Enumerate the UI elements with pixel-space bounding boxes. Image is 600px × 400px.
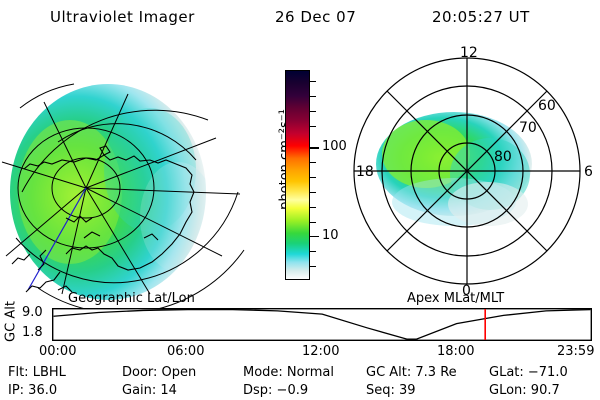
colorbar-minor-tick <box>310 111 316 112</box>
status-ip: IP: 36.0 <box>8 383 57 398</box>
colorbar-gradient <box>286 71 309 279</box>
colorbar-minor-tick <box>310 192 316 193</box>
colorbar-minor-tick <box>310 222 316 223</box>
instrument-title: Ultraviolet Imager <box>50 8 195 26</box>
colorbar-major-tick <box>310 236 319 238</box>
observation-date: 26 Dec 07 <box>275 8 356 26</box>
status-glat: GLat: −71.0 <box>489 365 568 380</box>
strip-title-geographic: Geographic Lat/Lon <box>68 291 195 306</box>
strip-y-min-label: 1.8 <box>22 325 43 340</box>
colorbar-major-tick <box>310 147 319 149</box>
colorbar-minor-tick <box>310 177 316 178</box>
colorbar: photon cm⁻²s⁻¹ 10010 <box>252 56 338 296</box>
strip-y-axis-label: GC Alt <box>4 301 19 343</box>
mlt-label-12: 12 <box>460 45 478 61</box>
status-gcalt: GC Alt: 7.3 Re <box>366 365 457 380</box>
strip-y-axis-label-wrap: GC Alt <box>2 300 20 342</box>
status-door: Door: Open <box>122 365 196 380</box>
strip-y-max-label: 9.0 <box>22 305 43 320</box>
header-bar: Ultraviolet Imager 26 Dec 07 20:05:27 UT <box>0 8 600 34</box>
colorbar-minor-tick <box>310 162 316 163</box>
geographic-image-panel[interactable] <box>0 42 252 294</box>
colorbar-tick-label: 10 <box>322 229 339 242</box>
apex-magnetic-panel[interactable]: 12 6 0 18 60 70 80 <box>338 42 596 300</box>
strip-frame <box>53 309 592 341</box>
strip-x-tick-label: 18:00 <box>437 344 474 359</box>
colorbar-minor-tick <box>310 207 316 208</box>
status-footer: Flt: LBHLDoor: OpenMode: NormalGC Alt: 7… <box>0 365 600 400</box>
strip-title-apex: Apex MLat/MLT <box>407 291 504 306</box>
mlat-label-70: 70 <box>519 120 537 136</box>
strip-x-tick-label: 00:00 <box>39 344 76 359</box>
strip-x-tick-label: 06:00 <box>167 344 204 359</box>
altitude-trace-svg <box>52 308 592 341</box>
altitude-strip-chart[interactable] <box>52 308 592 341</box>
status-dsp: Dsp: −0.9 <box>243 383 308 398</box>
colorbar-minor-tick <box>310 96 316 97</box>
mlt-label-6: 6 <box>584 164 593 180</box>
apex-polar-plot: 12 6 0 18 60 70 80 <box>338 42 596 300</box>
status-glon: GLon: 90.7 <box>489 383 560 398</box>
status-flt: Flt: LBHL <box>8 365 66 380</box>
colorbar-minor-tick <box>310 266 316 267</box>
colorbar-minor-tick <box>310 251 316 252</box>
status-seq: Seq: 39 <box>366 383 416 398</box>
colorbar-gradient-box <box>285 70 310 280</box>
mlat-label-60: 60 <box>538 98 556 114</box>
mlat-label-80: 80 <box>494 149 512 165</box>
mlt-spokes <box>354 58 580 284</box>
colorbar-minor-tick <box>310 126 316 127</box>
status-mode: Mode: Normal <box>243 365 334 380</box>
mlt-label-18: 18 <box>356 164 374 180</box>
geographic-plot <box>0 42 252 294</box>
observation-time: 20:05:27 UT <box>432 8 530 26</box>
status-gain: Gain: 14 <box>122 383 177 398</box>
strip-x-tick-label: 12:00 <box>302 344 339 359</box>
strip-x-tick-label: 23:59 <box>557 344 594 359</box>
colorbar-minor-tick <box>310 81 316 82</box>
